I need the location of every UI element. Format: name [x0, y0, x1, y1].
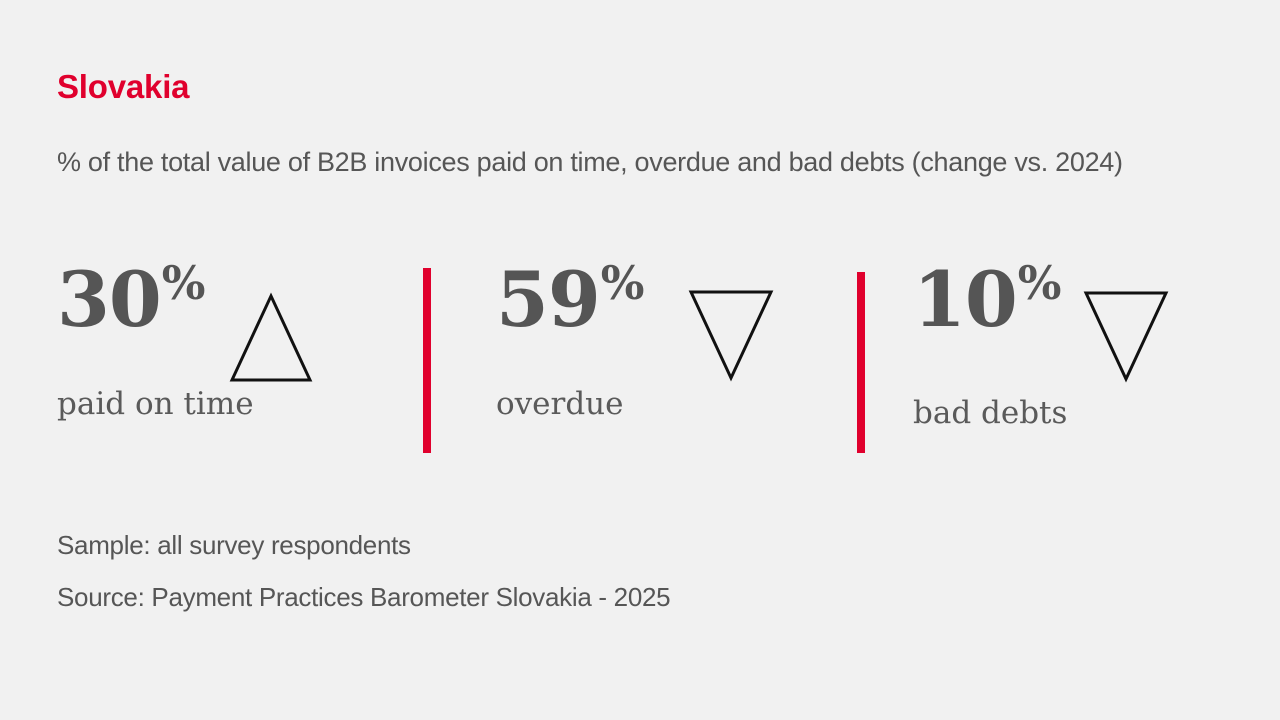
- triangle-up-outline-icon: [228, 292, 314, 384]
- stat-value: 30%: [57, 262, 204, 338]
- stat-number: 59: [496, 262, 600, 338]
- footer: Sample: all survey respondents Source: P…: [57, 532, 670, 610]
- infographic-canvas: Slovakia % of the total value of B2B inv…: [0, 0, 1280, 720]
- footer-source: Source: Payment Practices Barometer Slov…: [57, 584, 670, 610]
- section-divider: [857, 272, 865, 453]
- triangle-down-outline-icon: [687, 288, 775, 382]
- stat-value: 10%: [913, 262, 1060, 338]
- stat-unit: %: [162, 260, 205, 306]
- page-title: Slovakia: [57, 70, 189, 103]
- stat-block-overdue: 59% overdue: [496, 262, 826, 462]
- stat-unit: %: [1018, 260, 1061, 306]
- stat-label: paid on time: [57, 389, 254, 420]
- section-divider: [423, 268, 431, 453]
- stat-value: 59%: [496, 262, 643, 338]
- stat-value-group: 59%: [496, 262, 775, 356]
- chart-subtitle: % of the total value of B2B invoices pai…: [57, 145, 1197, 181]
- stat-value-group: 30%: [57, 262, 314, 354]
- triangle-down-outline-icon: [1082, 289, 1170, 383]
- stat-unit: %: [601, 260, 644, 306]
- stat-number: 10: [913, 262, 1017, 338]
- stat-block-paid-on-time: 30% paid on time: [57, 262, 397, 462]
- stat-value-group: 10%: [913, 262, 1170, 356]
- stat-block-bad-debts: 10% bad debts: [913, 262, 1243, 462]
- footer-sample: Sample: all survey respondents: [57, 532, 670, 558]
- stats-row: 30% paid on time 59%: [0, 262, 1280, 462]
- stat-label: bad debts: [913, 398, 1067, 429]
- stat-number: 30: [57, 262, 161, 338]
- stat-label: overdue: [496, 389, 624, 420]
